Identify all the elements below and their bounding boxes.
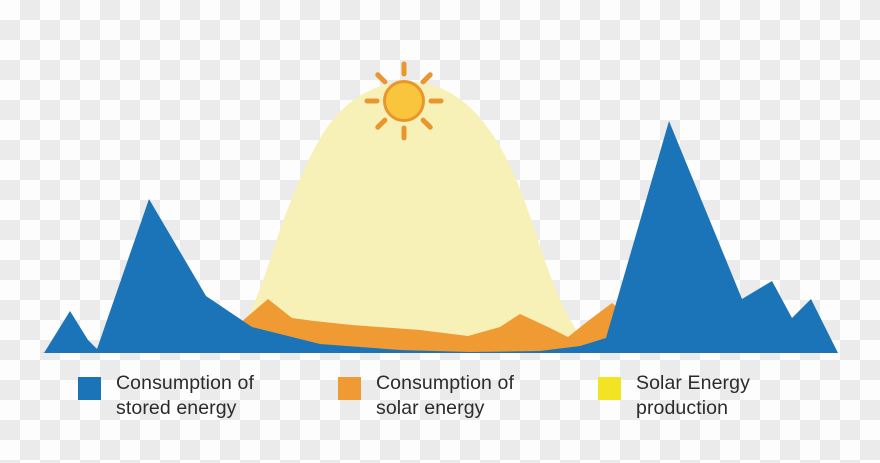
legend-item-stored-energy[interactable]: Consumption of stored energy — [78, 371, 338, 421]
sun-icon — [367, 64, 441, 138]
sun-ray-nw — [378, 75, 385, 82]
legend-item-solar-energy[interactable]: Consumption of solar energy — [338, 371, 598, 421]
chart-plot-area — [0, 0, 880, 370]
legend-label-solar-production: Solar Energy production — [636, 371, 750, 421]
figure-root: Consumption of stored energy Consumption… — [0, 0, 880, 463]
legend-swatch-solar-energy — [338, 377, 361, 400]
legend-item-solar-production[interactable]: Solar Energy production — [598, 371, 838, 421]
legend-swatch-solar-production — [598, 377, 621, 400]
legend-swatch-stored-energy — [78, 377, 101, 400]
sun-disc — [385, 82, 424, 121]
legend-label-stored-energy: Consumption of stored energy — [116, 371, 254, 421]
sun-ray-ne — [423, 75, 430, 82]
energy-area-chart — [0, 0, 880, 370]
legend-label-solar-energy: Consumption of solar energy — [376, 371, 514, 421]
chart-legend: Consumption of stored energy Consumption… — [0, 371, 880, 463]
